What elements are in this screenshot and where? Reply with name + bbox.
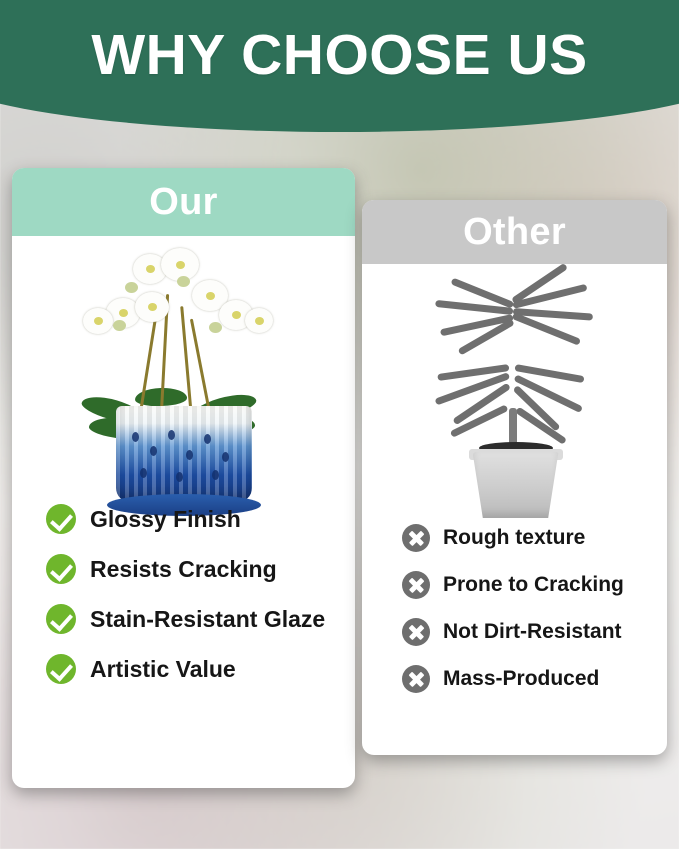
list-item: Not Dirt-Resistant xyxy=(402,608,667,655)
list-item: Glossy Finish xyxy=(46,494,355,544)
x-circle-icon xyxy=(402,571,430,599)
check-circle-icon xyxy=(46,654,76,684)
check-circle-icon xyxy=(46,604,76,634)
card-other-body: Rough texture Prone to Cracking Not Dirt… xyxy=(362,264,667,755)
check-circle-icon xyxy=(46,554,76,584)
list-item: Rough texture xyxy=(402,514,667,561)
feature-label: Rough texture xyxy=(443,526,585,550)
check-circle-icon xyxy=(46,504,76,534)
list-item: Stain-Resistant Glaze xyxy=(46,594,355,644)
x-circle-icon xyxy=(402,524,430,552)
feature-label: Prone to Cracking xyxy=(443,573,624,597)
x-circle-icon xyxy=(402,665,430,693)
feature-label: Glossy Finish xyxy=(90,506,241,533)
feature-list-other: Rough texture Prone to Cracking Not Dirt… xyxy=(362,514,667,702)
card-our-body: Glossy Finish Resists Cracking Stain-Res… xyxy=(12,236,355,788)
list-item: Prone to Cracking xyxy=(402,561,667,608)
feature-label: Mass-Produced xyxy=(443,667,599,691)
card-other-heading: Other xyxy=(362,200,667,264)
feature-label: Resists Cracking xyxy=(90,556,277,583)
feature-label: Not Dirt-Resistant xyxy=(443,620,622,644)
list-item: Mass-Produced xyxy=(402,655,667,702)
orchid-illustration xyxy=(59,248,309,518)
page-title: WHY CHOOSE US xyxy=(0,22,679,88)
list-item: Artistic Value xyxy=(46,644,355,694)
card-our: Our xyxy=(12,168,355,788)
product-image-our xyxy=(12,236,355,518)
why-choose-us-infographic: WHY CHOOSE US Our xyxy=(0,0,679,849)
palm-illustration xyxy=(405,272,625,522)
feature-label: Artistic Value xyxy=(90,656,236,683)
card-our-heading: Our xyxy=(12,168,355,236)
feature-list-our: Glossy Finish Resists Cracking Stain-Res… xyxy=(12,494,355,694)
planter-our xyxy=(116,406,252,502)
feature-label: Stain-Resistant Glaze xyxy=(90,606,325,633)
product-image-other xyxy=(362,264,667,522)
list-item: Resists Cracking xyxy=(46,544,355,594)
planter-other xyxy=(473,452,559,518)
x-circle-icon xyxy=(402,618,430,646)
card-other: Other xyxy=(362,200,667,755)
